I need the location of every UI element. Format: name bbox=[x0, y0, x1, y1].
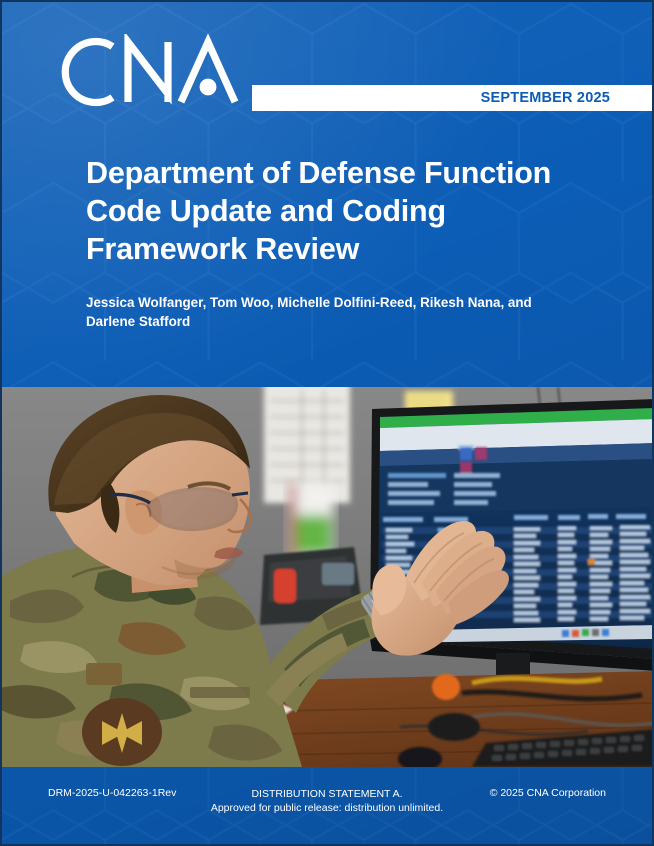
title-line-3: Framework Review bbox=[86, 230, 596, 268]
author-list: Jessica Wolfanger, Tom Woo, Michelle Dol… bbox=[86, 294, 576, 331]
date-bar: SEPTEMBER 2025 bbox=[252, 85, 652, 111]
cover-photo bbox=[2, 387, 652, 767]
mouse bbox=[428, 713, 480, 741]
distribution-line-2: Approved for public release: distributio… bbox=[2, 801, 652, 815]
title-block: Department of Defense Function Code Upda… bbox=[86, 154, 596, 331]
title-line-2: Code Update and Coding bbox=[86, 192, 596, 230]
publication-date: SEPTEMBER 2025 bbox=[481, 90, 652, 106]
cover-header: SEPTEMBER 2025 bbox=[2, 2, 652, 122]
title-line-1: Department of Defense Function bbox=[86, 154, 596, 192]
document-cover-page: SEPTEMBER 2025 Department of Defense Fun… bbox=[0, 0, 654, 846]
cover-footer: DRM-2025-U-042263-1Rev DISTRIBUTION STAT… bbox=[2, 767, 652, 844]
copyright-notice: © 2025 CNA Corporation bbox=[490, 787, 606, 799]
page-title: Department of Defense Function Code Upda… bbox=[86, 154, 596, 268]
cna-logo bbox=[57, 34, 247, 110]
